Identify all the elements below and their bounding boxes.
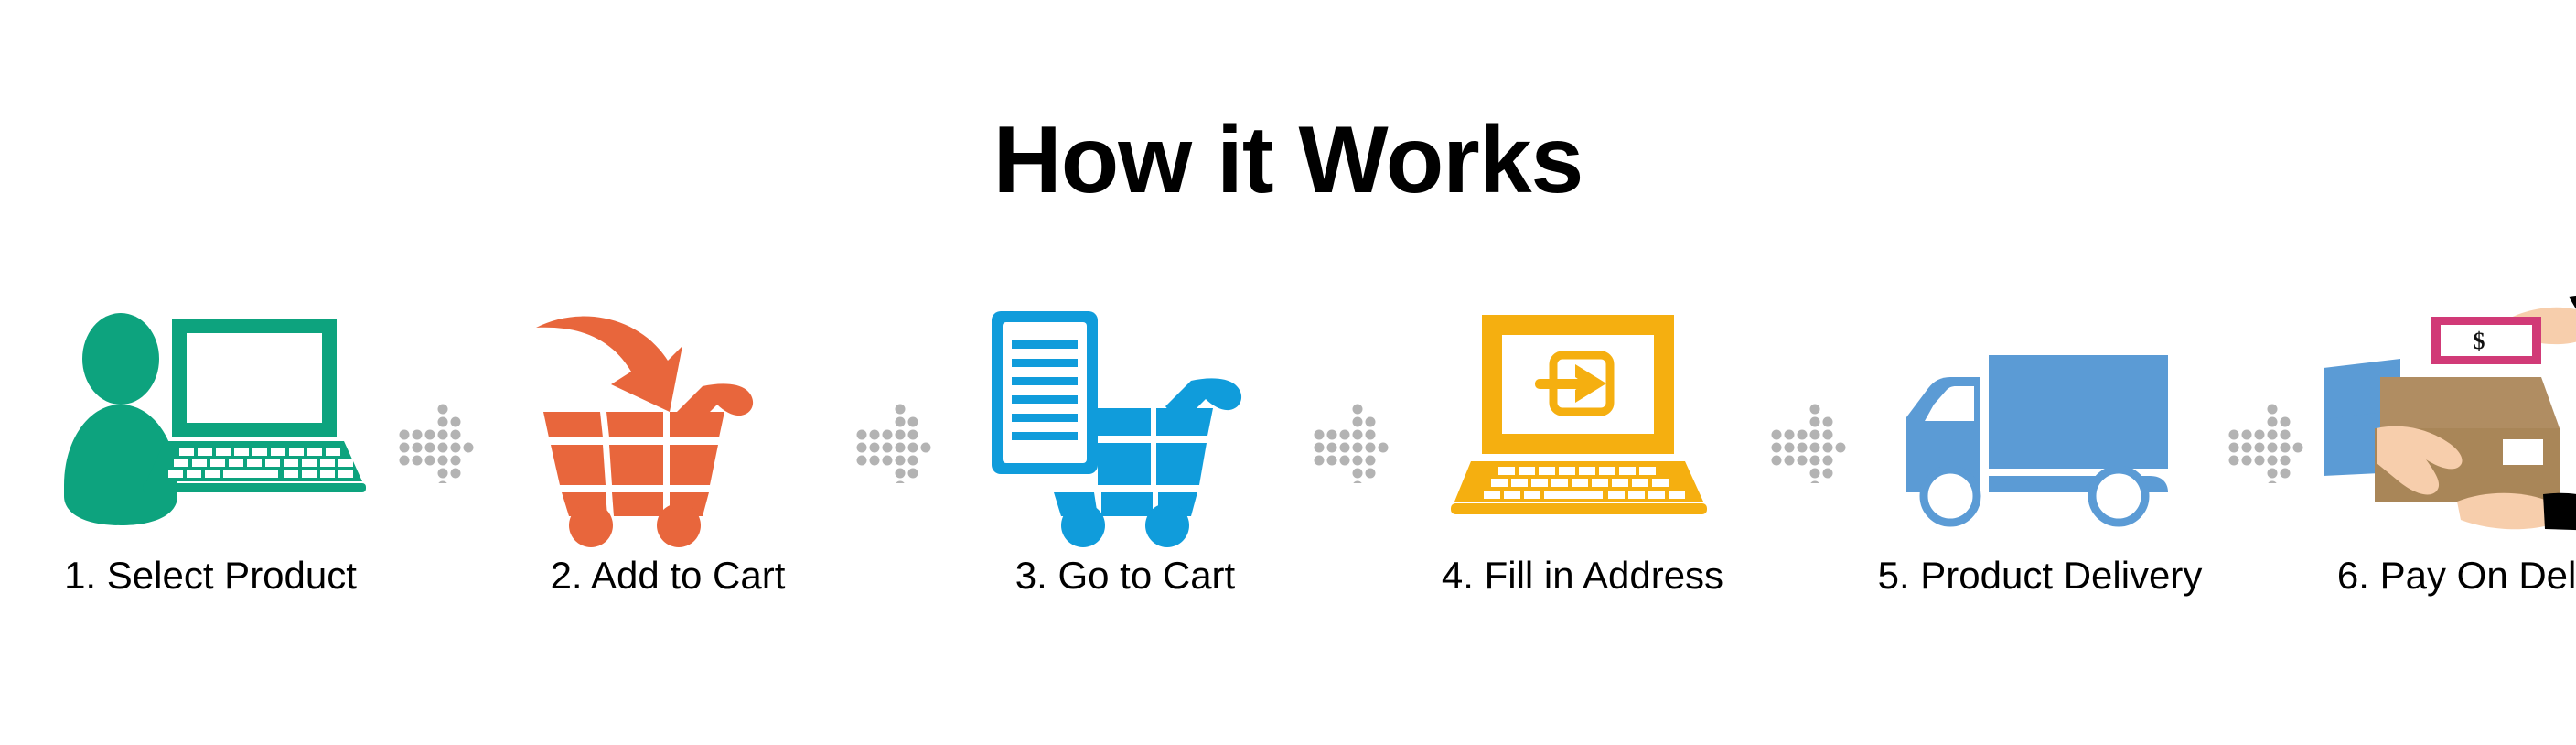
step-2-art [494,302,842,531]
separator-5 [2214,302,2324,641]
shipping-label [2503,439,2543,465]
steps-container: 1. Select Product [37,302,2539,641]
dotted-arrow-right-icon [855,401,938,483]
laptop-login-icon [1445,302,1720,531]
step-4-art [1409,302,1756,531]
cart-with-arrow-icon [531,302,805,531]
hand-lower [2457,493,2549,530]
dotted-arrow-right-icon [2227,401,2310,483]
step-4-label: 4. Fill in Address [1442,556,1723,595]
black-sleeve-lower [2543,493,2576,531]
document-and-cart-icon [988,302,1262,531]
step-3-art [951,302,1299,531]
separator-2 [842,302,951,641]
dotted-arrow-right-icon [398,401,480,483]
hands-box-cash-icon: $ [2324,293,2576,531]
step-1-label: 1. Select Product [64,556,357,595]
dotted-arrow-right-icon [1313,401,1395,483]
step-6-label: 6. Pay On Delivery [2337,556,2576,595]
separator-1 [384,302,494,641]
step-5-art [1866,302,2214,531]
step-1-art [37,302,384,531]
step-4-fill-in-address: 4. Fill in Address [1409,302,1756,641]
separator-4 [1756,302,1866,641]
dotted-arrow-right-icon [1770,401,1852,483]
step-3-label: 3. Go to Cart [1015,556,1235,595]
dollar-symbol: $ [2474,328,2485,354]
person-at-laptop-icon [55,302,366,531]
step-6-art: $ [2324,302,2576,531]
page-title: How it Works [0,108,2576,212]
step-5-label: 5. Product Delivery [1878,556,2203,595]
step-3-go-to-cart: 3. Go to Cart [951,302,1299,641]
step-5-product-delivery: 5. Product Delivery [1866,302,2214,641]
banknote: $ [2431,317,2541,364]
step-6-pay-on-delivery: $ [2324,302,2576,641]
step-1-select-product: 1. Select Product [37,302,384,641]
separator-3 [1299,302,1409,641]
delivery-truck-icon [1894,302,2186,531]
step-2-label: 2. Add to Cart [551,556,786,595]
how-it-works-infographic: How it Works [0,0,2576,745]
step-2-add-to-cart: 2. Add to Cart [494,302,842,641]
